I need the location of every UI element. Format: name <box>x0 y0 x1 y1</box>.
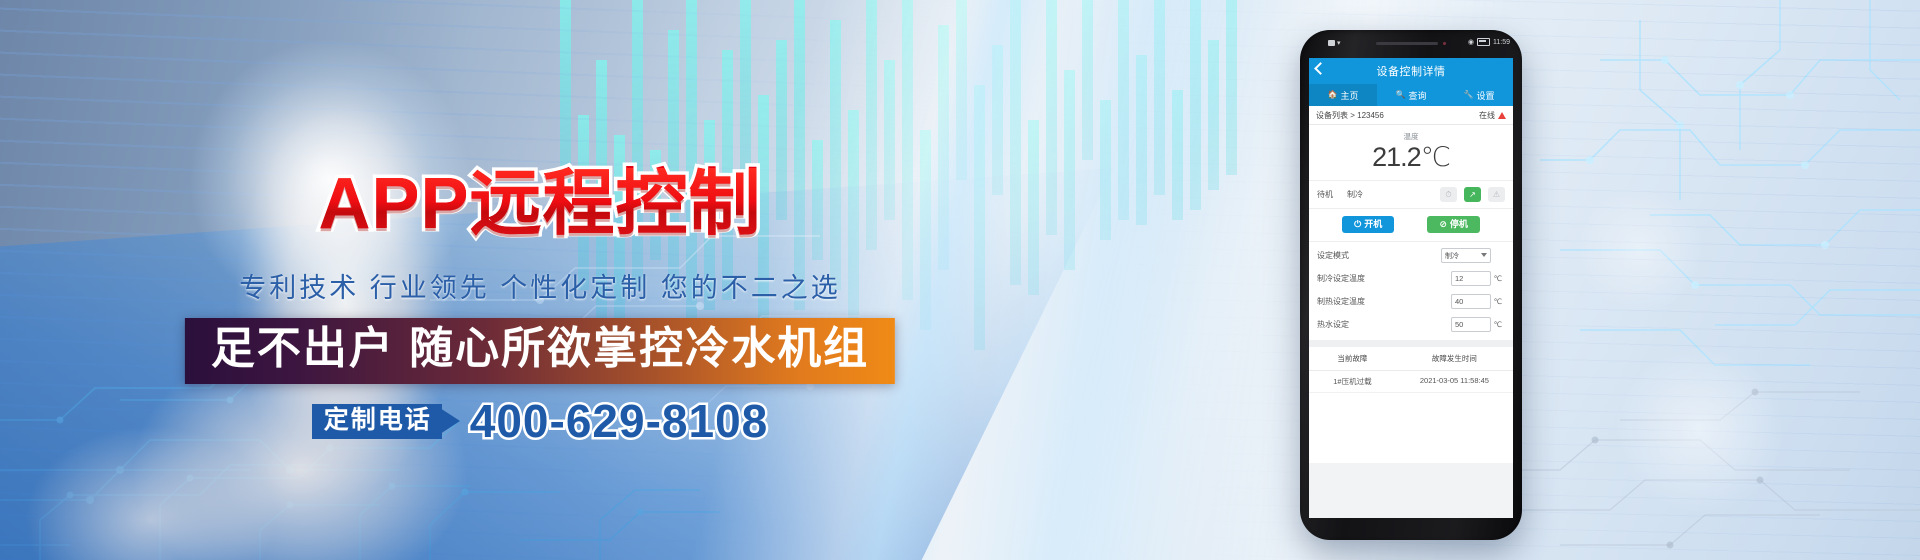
temperature-label: 温度 <box>1309 131 1513 142</box>
app-title: 设备控制详情 <box>1309 63 1513 79</box>
contact-phone-number: 400-629-8108 <box>470 398 768 444</box>
search-icon: 🔍 <box>1396 91 1406 99</box>
setting-row-cool-temp: 制冷设定温度 12 ℃ <box>1309 267 1513 290</box>
tab-query-label: 查询 <box>1408 89 1426 102</box>
setting-unit-hotwater: ℃ <box>1491 320 1505 329</box>
status-right-icons: ◉ 11:59 <box>1468 38 1510 46</box>
arrow-right-icon <box>440 408 460 434</box>
heat-temp-input[interactable]: 40 <box>1451 294 1491 309</box>
section-divider <box>1309 340 1513 347</box>
warning-triangle-icon <box>1498 112 1506 119</box>
power-on-button[interactable]: ⏻ 开机 <box>1342 216 1394 233</box>
tab-bar: 🏠 主页 🔍 查询 🔧 设置 <box>1309 84 1513 106</box>
highlight-ribbon: 足不出户 随心所欲掌控冷水机组 <box>185 318 895 384</box>
mode-icon-group: ⏱ ↗ ⚠ <box>1440 187 1505 202</box>
fault-table-header: 当前故障 故障发生时间 <box>1309 347 1513 371</box>
contact-line: 定制电话400-629-8108 <box>0 398 1080 444</box>
timer-icon[interactable]: ⏱ <box>1440 187 1457 202</box>
fault-table-empty-space <box>1309 393 1513 463</box>
power-icon: ⏻ <box>1354 220 1361 229</box>
tab-settings-label: 设置 <box>1476 89 1494 102</box>
phone-mockup: ▾ ◉ 11:59 设备控制详情 🏠 主页 🔍 <box>1300 30 1522 540</box>
contact-label: 定制电话 <box>312 404 442 439</box>
fault-table: 当前故障 故障发生时间 1#压机过载 2021-03-05 11:58:45 <box>1309 347 1513 463</box>
setting-row-heat-temp: 制热设定温度 40 ℃ <box>1309 290 1513 313</box>
table-row[interactable]: 1#压机过载 2021-03-05 11:58:45 <box>1309 371 1513 393</box>
online-status-label: 在线 <box>1479 110 1495 121</box>
cool-temp-input[interactable]: 12 <box>1451 271 1491 286</box>
setting-unit-cool-temp: ℃ <box>1491 274 1505 283</box>
power-off-label: 停机 <box>1450 220 1468 229</box>
subtitle: 专利技术 行业领先 个性化定制 您的不二之选 <box>0 266 1080 305</box>
location-icon: ◉ <box>1468 38 1474 46</box>
breadcrumb-path[interactable]: 设备列表 > 123456 <box>1316 110 1384 121</box>
chevron-down-icon <box>1481 253 1487 257</box>
control-buttons-row: ⏻ 开机 ⊘ 停机 <box>1309 209 1513 242</box>
phone-status-bar: ▾ ◉ 11:59 <box>1300 30 1522 58</box>
hotwater-input[interactable]: 50 <box>1451 317 1491 332</box>
setting-label-cool-temp: 制冷设定温度 <box>1317 273 1451 284</box>
speaker-grill <box>1376 42 1438 45</box>
page-title: APP远程控制 <box>0 168 1080 240</box>
home-icon: 🏠 <box>1328 91 1338 99</box>
fault-time: 2021-03-05 11:58:45 <box>1396 376 1513 387</box>
app-navbar: 设备控制详情 <box>1309 58 1513 84</box>
wrench-icon: 🔧 <box>1464 91 1474 99</box>
fault-col-time: 故障发生时间 <box>1396 353 1513 364</box>
tab-settings[interactable]: 🔧 设置 <box>1445 84 1513 106</box>
phone-screen: 设备控制详情 🏠 主页 🔍 查询 🔧 设置 设备列表 > 123456 <box>1309 58 1513 518</box>
status-clock: 11:59 <box>1493 39 1510 46</box>
temperature-value: 21.2℃ <box>1309 143 1513 171</box>
setting-label-mode: 设定模式 <box>1317 250 1441 261</box>
alarm-triangle-icon[interactable]: ⚠ <box>1488 187 1505 202</box>
mode-select[interactable]: 制冷 <box>1441 248 1491 263</box>
tab-home[interactable]: 🏠 主页 <box>1309 84 1377 106</box>
power-on-label: 开机 <box>1364 220 1382 229</box>
mode-select-value: 制冷 <box>1445 251 1459 261</box>
tab-home-label: 主页 <box>1340 89 1358 102</box>
stop-icon: ⊘ <box>1439 220 1447 229</box>
setting-label-hotwater: 热水设定 <box>1317 319 1451 330</box>
fault-col-current: 当前故障 <box>1309 353 1396 364</box>
setting-row-mode: 设定模式 制冷 <box>1309 244 1513 267</box>
status-badge: 在线 <box>1479 110 1506 121</box>
settings-list: 设定模式 制冷 制冷设定温度 12 ℃ 制热设定温度 40 ℃ <box>1309 242 1513 340</box>
battery-icon <box>1477 38 1490 46</box>
setting-unit-heat-temp: ℃ <box>1491 297 1505 306</box>
setting-label-heat-temp: 制热设定温度 <box>1317 296 1451 307</box>
device-mode-label: 制冷 <box>1347 189 1363 200</box>
chart-icon[interactable]: ↗ <box>1464 187 1481 202</box>
setting-row-hotwater: 热水设定 50 ℃ <box>1309 313 1513 336</box>
breadcrumb: 设备列表 > 123456 在线 <box>1309 106 1513 125</box>
temperature-card: 温度 21.2℃ <box>1309 125 1513 181</box>
device-state-label: 待机 <box>1317 189 1333 200</box>
fault-name: 1#压机过载 <box>1309 376 1396 387</box>
promo-banner: APP远程控制 APP远程控制 专利技术 行业领先 个性化定制 您的不二之选 足… <box>0 0 1920 560</box>
signal-icon: ▾ <box>1337 39 1341 47</box>
sim-icon <box>1328 40 1335 46</box>
tab-query[interactable]: 🔍 查询 <box>1377 84 1445 106</box>
power-off-button[interactable]: ⊘ 停机 <box>1427 216 1480 233</box>
front-camera-icon <box>1443 42 1446 45</box>
banner-copy: APP远程控制 APP远程控制 专利技术 行业领先 个性化定制 您的不二之选 足… <box>0 0 1080 560</box>
status-left-icons: ▾ <box>1328 39 1341 47</box>
mode-row: 待机 制冷 ⏱ ↗ ⚠ <box>1309 181 1513 209</box>
